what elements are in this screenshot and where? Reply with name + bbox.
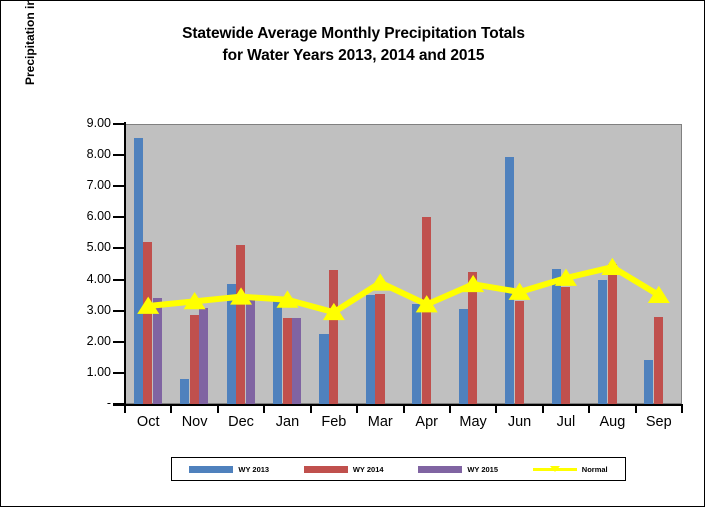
x-tick-mark <box>310 406 312 413</box>
y-tick-mark <box>113 216 124 218</box>
legend-label: WY 2014 <box>353 465 384 474</box>
y-tick-label: 2.00 <box>59 335 111 348</box>
legend-color-swatch <box>189 466 233 473</box>
legend-label: Normal <box>582 465 608 474</box>
legend-label: WY 2015 <box>467 465 498 474</box>
y-tick-mark <box>113 123 124 125</box>
x-tick-label: Apr <box>404 414 450 431</box>
legend-item-normal[interactable]: Normal <box>533 464 608 474</box>
legend-color-swatch <box>418 466 462 473</box>
x-tick-label: Jul <box>543 414 589 431</box>
bar-wy2013-dec <box>227 284 236 404</box>
x-tick-mark <box>449 406 451 413</box>
plot-wrapper <box>125 124 682 404</box>
y-tick-label: - <box>59 397 111 410</box>
bar-wy2014-feb <box>329 270 338 404</box>
bar-wy2013-jul <box>552 269 561 404</box>
y-tick-mark <box>113 372 124 374</box>
x-tick-label: May <box>450 414 496 431</box>
legend-label: WY 2013 <box>238 465 269 474</box>
x-tick-label: Feb <box>311 414 357 431</box>
y-tick-mark <box>113 279 124 281</box>
x-tick-label: Mar <box>357 414 403 431</box>
bar-wy2013-aug <box>598 280 607 404</box>
y-tick-label: 5.00 <box>59 241 111 254</box>
y-tick-label: 3.00 <box>59 304 111 317</box>
x-tick-mark <box>403 406 405 413</box>
y-tick-mark <box>113 247 124 249</box>
legend-item-wy-2013[interactable]: WY 2013 <box>189 465 269 474</box>
y-tick-mark <box>113 341 124 343</box>
bar-wy2014-apr <box>422 217 431 404</box>
bar-wy2014-jul <box>561 287 570 404</box>
y-tick-label: 6.00 <box>59 210 111 223</box>
x-tick-mark <box>635 406 637 413</box>
bar-wy2014-jun <box>515 301 524 404</box>
x-tick-mark <box>356 406 358 413</box>
legend-item-wy-2015[interactable]: WY 2015 <box>418 465 498 474</box>
x-tick-label: Oct <box>125 414 171 431</box>
bar-wy2013-jun <box>505 157 514 404</box>
bar-wy2015-dec <box>246 298 255 404</box>
y-axis-line <box>124 122 126 406</box>
y-tick-label: 9.00 <box>59 117 111 130</box>
legend-item-wy-2014[interactable]: WY 2014 <box>304 465 384 474</box>
x-tick-mark <box>263 406 265 413</box>
y-tick-label: 7.00 <box>59 179 111 192</box>
bar-wy2014-may <box>468 272 477 404</box>
x-tick-mark <box>588 406 590 413</box>
bar-wy2013-nov <box>180 379 189 404</box>
bar-wy2014-mar <box>375 294 384 404</box>
chart-figure: Statewide Average Monthly Precipitation … <box>0 0 705 507</box>
x-tick-mark <box>217 406 219 413</box>
x-tick-label: Sep <box>636 414 682 431</box>
x-tick-label: Aug <box>589 414 635 431</box>
bar-wy2013-oct <box>134 138 143 404</box>
y-tick-mark <box>113 310 124 312</box>
x-tick-mark <box>124 406 126 413</box>
bar-wy2015-nov <box>199 308 208 404</box>
bar-wy2013-may <box>459 309 468 404</box>
y-axis-tick-labels: 9.008.007.006.005.004.003.002.001.00- <box>56 1 111 507</box>
bar-wy2014-jan <box>283 318 292 404</box>
x-tick-mark <box>170 406 172 413</box>
y-tick-label: 4.00 <box>59 273 111 286</box>
chart-legend: WY 2013WY 2014WY 2015Normal <box>171 457 626 481</box>
legend-color-swatch <box>304 466 348 473</box>
x-tick-label: Dec <box>218 414 264 431</box>
bar-wy2014-sep <box>654 317 663 404</box>
x-axis-line <box>113 404 683 406</box>
y-tick-mark <box>113 185 124 187</box>
y-axis-title-text: Precipitation in Inches <box>23 0 37 85</box>
y-axis-title: Precipitation in Inches <box>23 0 37 136</box>
x-tick-label: Nov <box>171 414 217 431</box>
bar-wy2014-aug <box>608 264 617 404</box>
y-tick-label: 1.00 <box>59 366 111 379</box>
x-tick-mark <box>681 406 683 413</box>
x-tick-label: Jan <box>264 414 310 431</box>
bar-wy2013-sep <box>644 360 653 404</box>
bar-wy2014-oct <box>143 242 152 404</box>
x-tick-mark <box>495 406 497 413</box>
legend-line-swatch <box>533 464 577 474</box>
bar-wy2013-jan <box>273 301 282 404</box>
bar-wy2015-oct <box>153 298 162 404</box>
legend-triangle-marker-icon <box>550 466 560 472</box>
x-tick-mark <box>542 406 544 413</box>
x-tick-label: Jun <box>496 414 542 431</box>
bar-wy2013-feb <box>319 334 328 404</box>
y-tick-mark <box>113 154 124 156</box>
bar-wy2013-mar <box>366 295 375 404</box>
bar-wy2014-nov <box>190 315 199 404</box>
bar-wy2013-apr <box>412 304 421 404</box>
bar-wy2014-dec <box>236 245 245 404</box>
bar-wy2015-jan <box>292 318 301 404</box>
y-tick-label: 8.00 <box>59 148 111 161</box>
